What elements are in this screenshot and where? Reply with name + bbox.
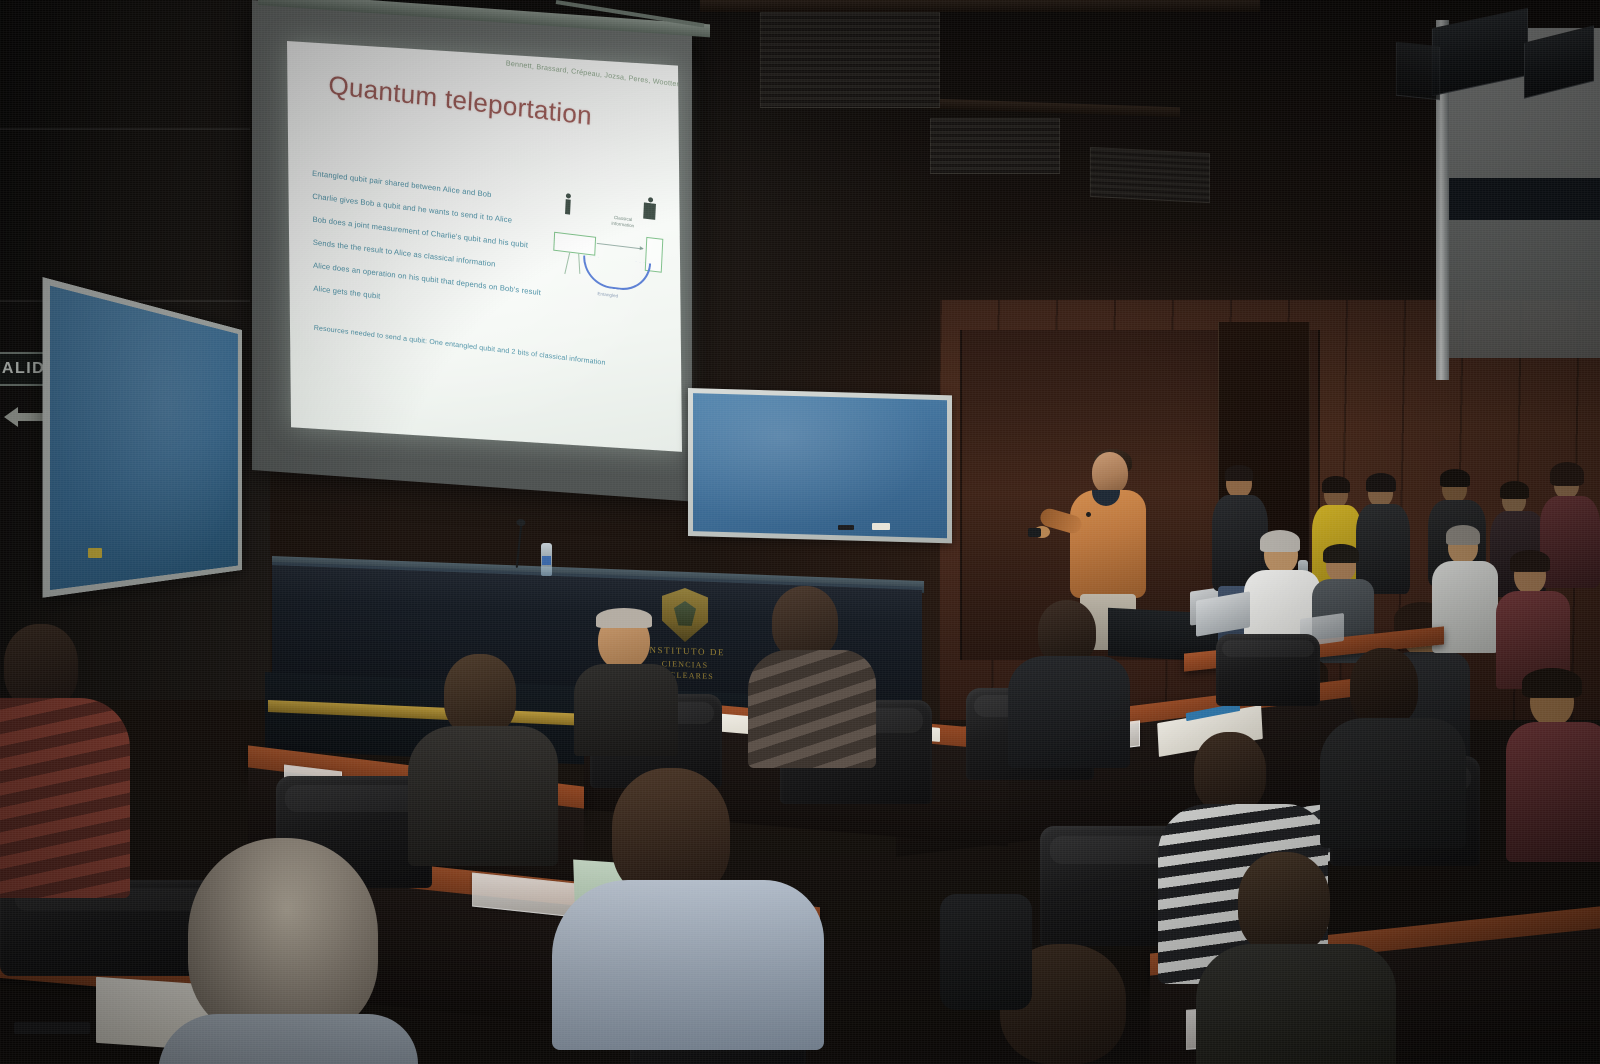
board-eraser[interactable] — [872, 523, 890, 530]
presentation-clicker[interactable] — [1028, 528, 1041, 537]
bob-figure-icon — [565, 193, 571, 215]
ceiling-loudspeaker — [1396, 42, 1440, 101]
lecture-hall-photo: Bennett, Brassard, Crépeau, Jozsa, Peres… — [0, 0, 1600, 1064]
presentation-slide: Bennett, Brassard, Crépeau, Jozsa, Peres… — [287, 41, 682, 452]
shield-icon — [662, 587, 708, 643]
ceiling-vent — [930, 118, 1060, 174]
wall-seam — [0, 128, 250, 130]
pen[interactable] — [14, 1022, 90, 1034]
ceiling-vent — [760, 12, 940, 108]
ceiling-beam — [700, 0, 1260, 12]
classical-channel-arrow — [597, 243, 643, 250]
blackboard-left — [43, 277, 242, 598]
teleportation-diagram: Classical information Entangled — [551, 186, 675, 320]
slide-bullet-list: Entangled qubit pair shared between Alic… — [312, 169, 662, 191]
apparatus-stand-leg — [564, 253, 570, 274]
right-wall-dark-band — [1448, 178, 1600, 220]
blackboard-right — [688, 388, 952, 543]
auditorium-chair[interactable] — [1216, 634, 1320, 706]
institution-line-1: INSTITUTO DE — [640, 643, 730, 658]
backpack — [940, 894, 1032, 1010]
lapel-microphone-icon — [1086, 512, 1091, 517]
slide-title: Quantum teleportation — [328, 70, 593, 132]
apparatus-stand-leg — [578, 254, 580, 274]
alice-figure-icon — [643, 197, 656, 220]
blackboard-surface — [693, 393, 947, 538]
board-eraser[interactable] — [88, 548, 102, 558]
water-bottle-icon[interactable] — [541, 543, 552, 576]
classical-information-label: Classical information — [601, 213, 645, 230]
slide-bullet-resources: Resources needed to send a qubit: One en… — [314, 325, 606, 367]
entangled-label: Entangled — [597, 291, 618, 298]
wall-seam — [0, 600, 250, 602]
slide-bullet: Alice gets the qubit — [313, 284, 381, 301]
ceiling-vent — [1090, 147, 1210, 203]
entanglement-curve — [582, 255, 651, 293]
blackboard-surface — [50, 286, 238, 590]
bob-apparatus-box — [553, 232, 596, 256]
whiteboard-marker[interactable] — [838, 525, 854, 530]
presenter-head — [1092, 452, 1128, 494]
presenter-sweater — [1070, 490, 1146, 598]
